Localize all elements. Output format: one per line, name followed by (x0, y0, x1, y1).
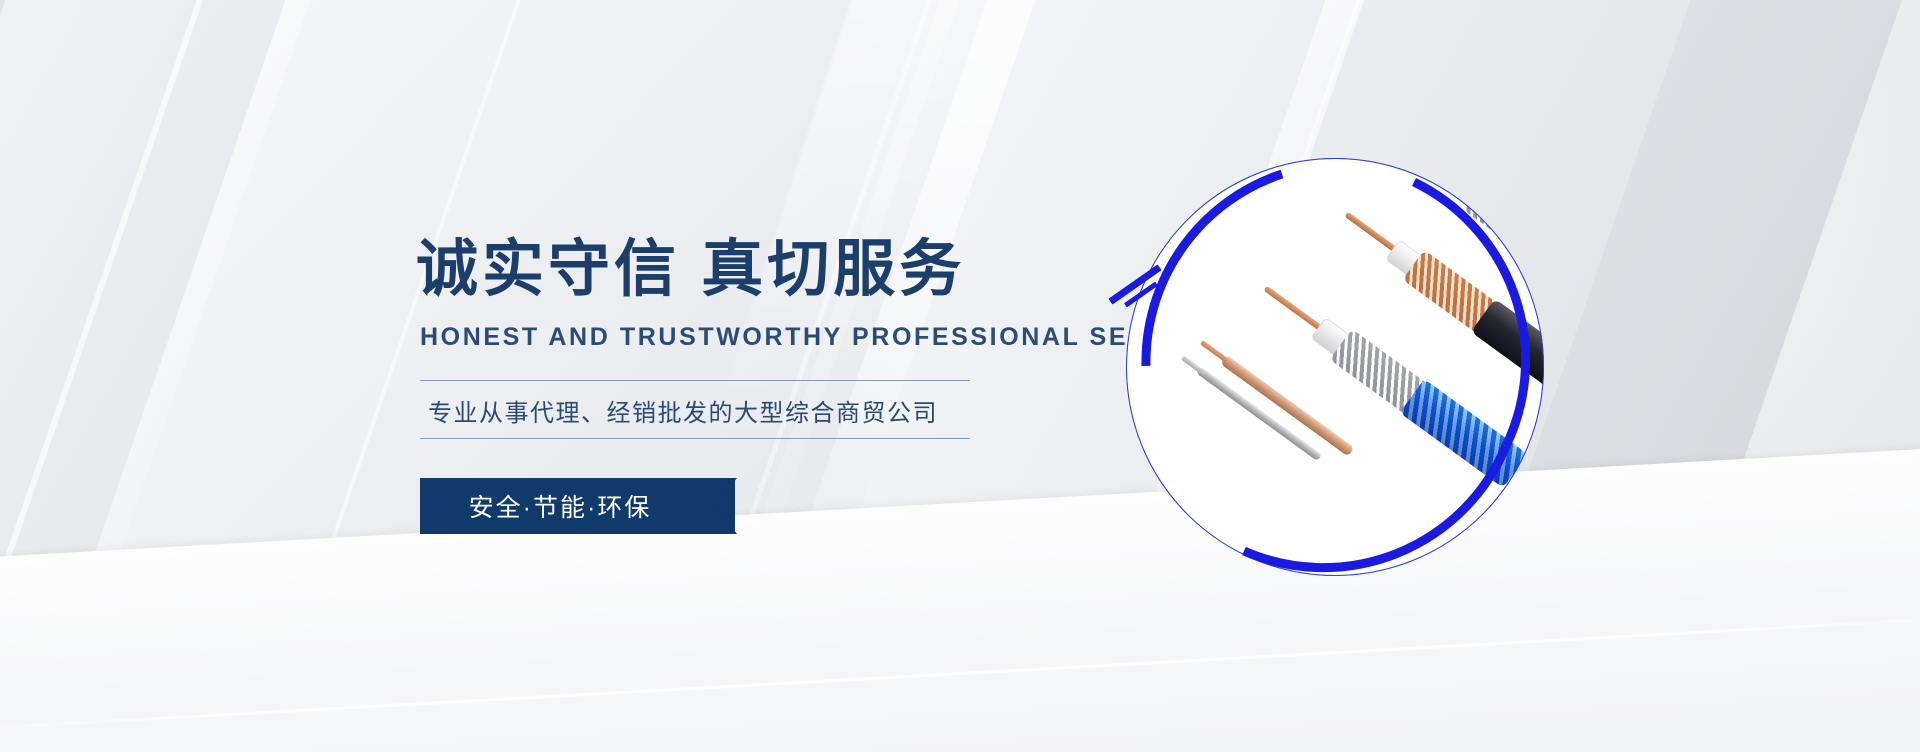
description-text: 专业从事代理、经销批发的大型综合商贸公司 (428, 393, 938, 428)
divider-top (420, 380, 970, 381)
hero-banner: 诚实守信 真切服务 HONEST AND TRUSTWORTHY PROFESS… (0, 0, 1920, 752)
divider-bottom (420, 438, 970, 439)
ribbon-badge-label: 安全·节能·环保 (420, 478, 700, 534)
ring-accent-arc (1114, 146, 1560, 592)
product-medallion (1120, 152, 1550, 582)
page-title: 诚实守信 真切服务 (416, 239, 965, 301)
banner-content: 诚实守信 真切服务 HONEST AND TRUSTWORTHY PROFESS… (0, 0, 1920, 752)
